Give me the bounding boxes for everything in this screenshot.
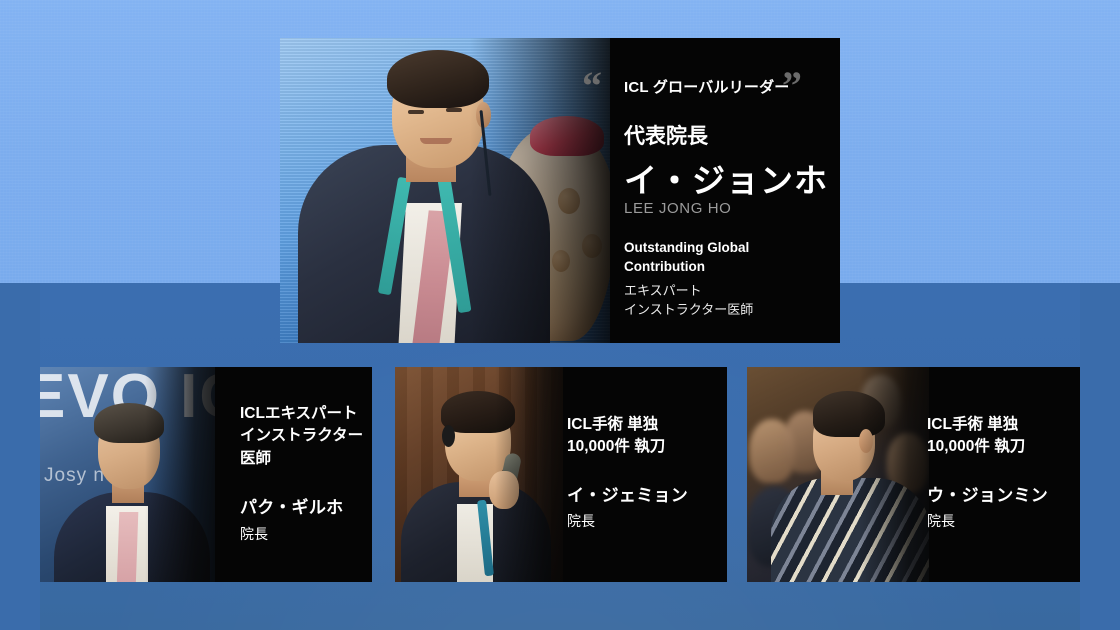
card-doctor-role: 院長 [567, 511, 595, 531]
card-photo-tie [117, 512, 139, 582]
card-text-block: ICLエキスパート インストラクター 医師 パク・ギルホ 院長 [240, 367, 372, 582]
card-text-block: ICL手術 単独 10,000件 執刀 イ・ジェミョン 院長 [567, 367, 727, 582]
card-doctor-name: イ・ジェミョン [567, 481, 688, 506]
card-headline: ICL手術 単独 10,000件 執刀 [927, 414, 1025, 459]
hero-name-ja: イ・ジョンホ [624, 154, 828, 202]
hero-subtitle: エキスパート インストラクター医師 [624, 282, 753, 320]
hero-award-text: Outstanding Global Contribution [624, 238, 749, 276]
card-doctor-role: 院長 [240, 524, 268, 544]
hero-name-en: LEE JONG HO [624, 200, 731, 217]
card-photo-fade-overlay [145, 367, 235, 582]
doctor-card-woo-jong-min[interactable]: ICL手術 単独 10,000件 執刀 ウ・ジョンミン 院長 [747, 367, 1080, 582]
hero-card[interactable]: “ ” ICL グローバルリーダー 代表院長 イ・ジョンホ LEE JONG H… [280, 38, 840, 343]
hero-photo-mouth [420, 138, 452, 144]
doctor-card-park-gil-ho[interactable]: EVO IC Josу nce T ICLエキスパート インストラクター 医師 … [40, 367, 372, 582]
quote-open-icon: “ [582, 66, 602, 106]
hero-title: 代表院長 [624, 120, 708, 150]
card-headline: ICLエキスパート インストラクター 医師 [240, 403, 363, 470]
card-photo-earpiece [442, 425, 455, 447]
hero-text-block: “ ” ICL グローバルリーダー 代表院長 イ・ジョンホ LEE JONG H… [600, 38, 840, 343]
card-doctor-name: ウ・ジョンミン [927, 481, 1048, 506]
card-doctor-role: 院長 [927, 511, 955, 531]
hero-role-tag: ICL グローバルリーダー [624, 76, 790, 97]
card-doctor-name: パク・ギルホ [240, 493, 343, 518]
card-headline: ICL手術 単独 10,000件 執刀 [567, 414, 665, 459]
hero-photo-eye [408, 110, 424, 114]
card-text-block: ICL手術 単独 10,000件 執刀 ウ・ジョンミン 院長 [927, 367, 1080, 582]
hero-photo-eye [446, 108, 462, 112]
page-root: “ ” ICL グローバルリーダー 代表院長 イ・ジョンホ LEE JONG H… [0, 0, 1120, 630]
doctor-card-lee-je-myeong[interactable]: ICL手術 単独 10,000件 執刀 イ・ジェミョン 院長 [395, 367, 727, 582]
